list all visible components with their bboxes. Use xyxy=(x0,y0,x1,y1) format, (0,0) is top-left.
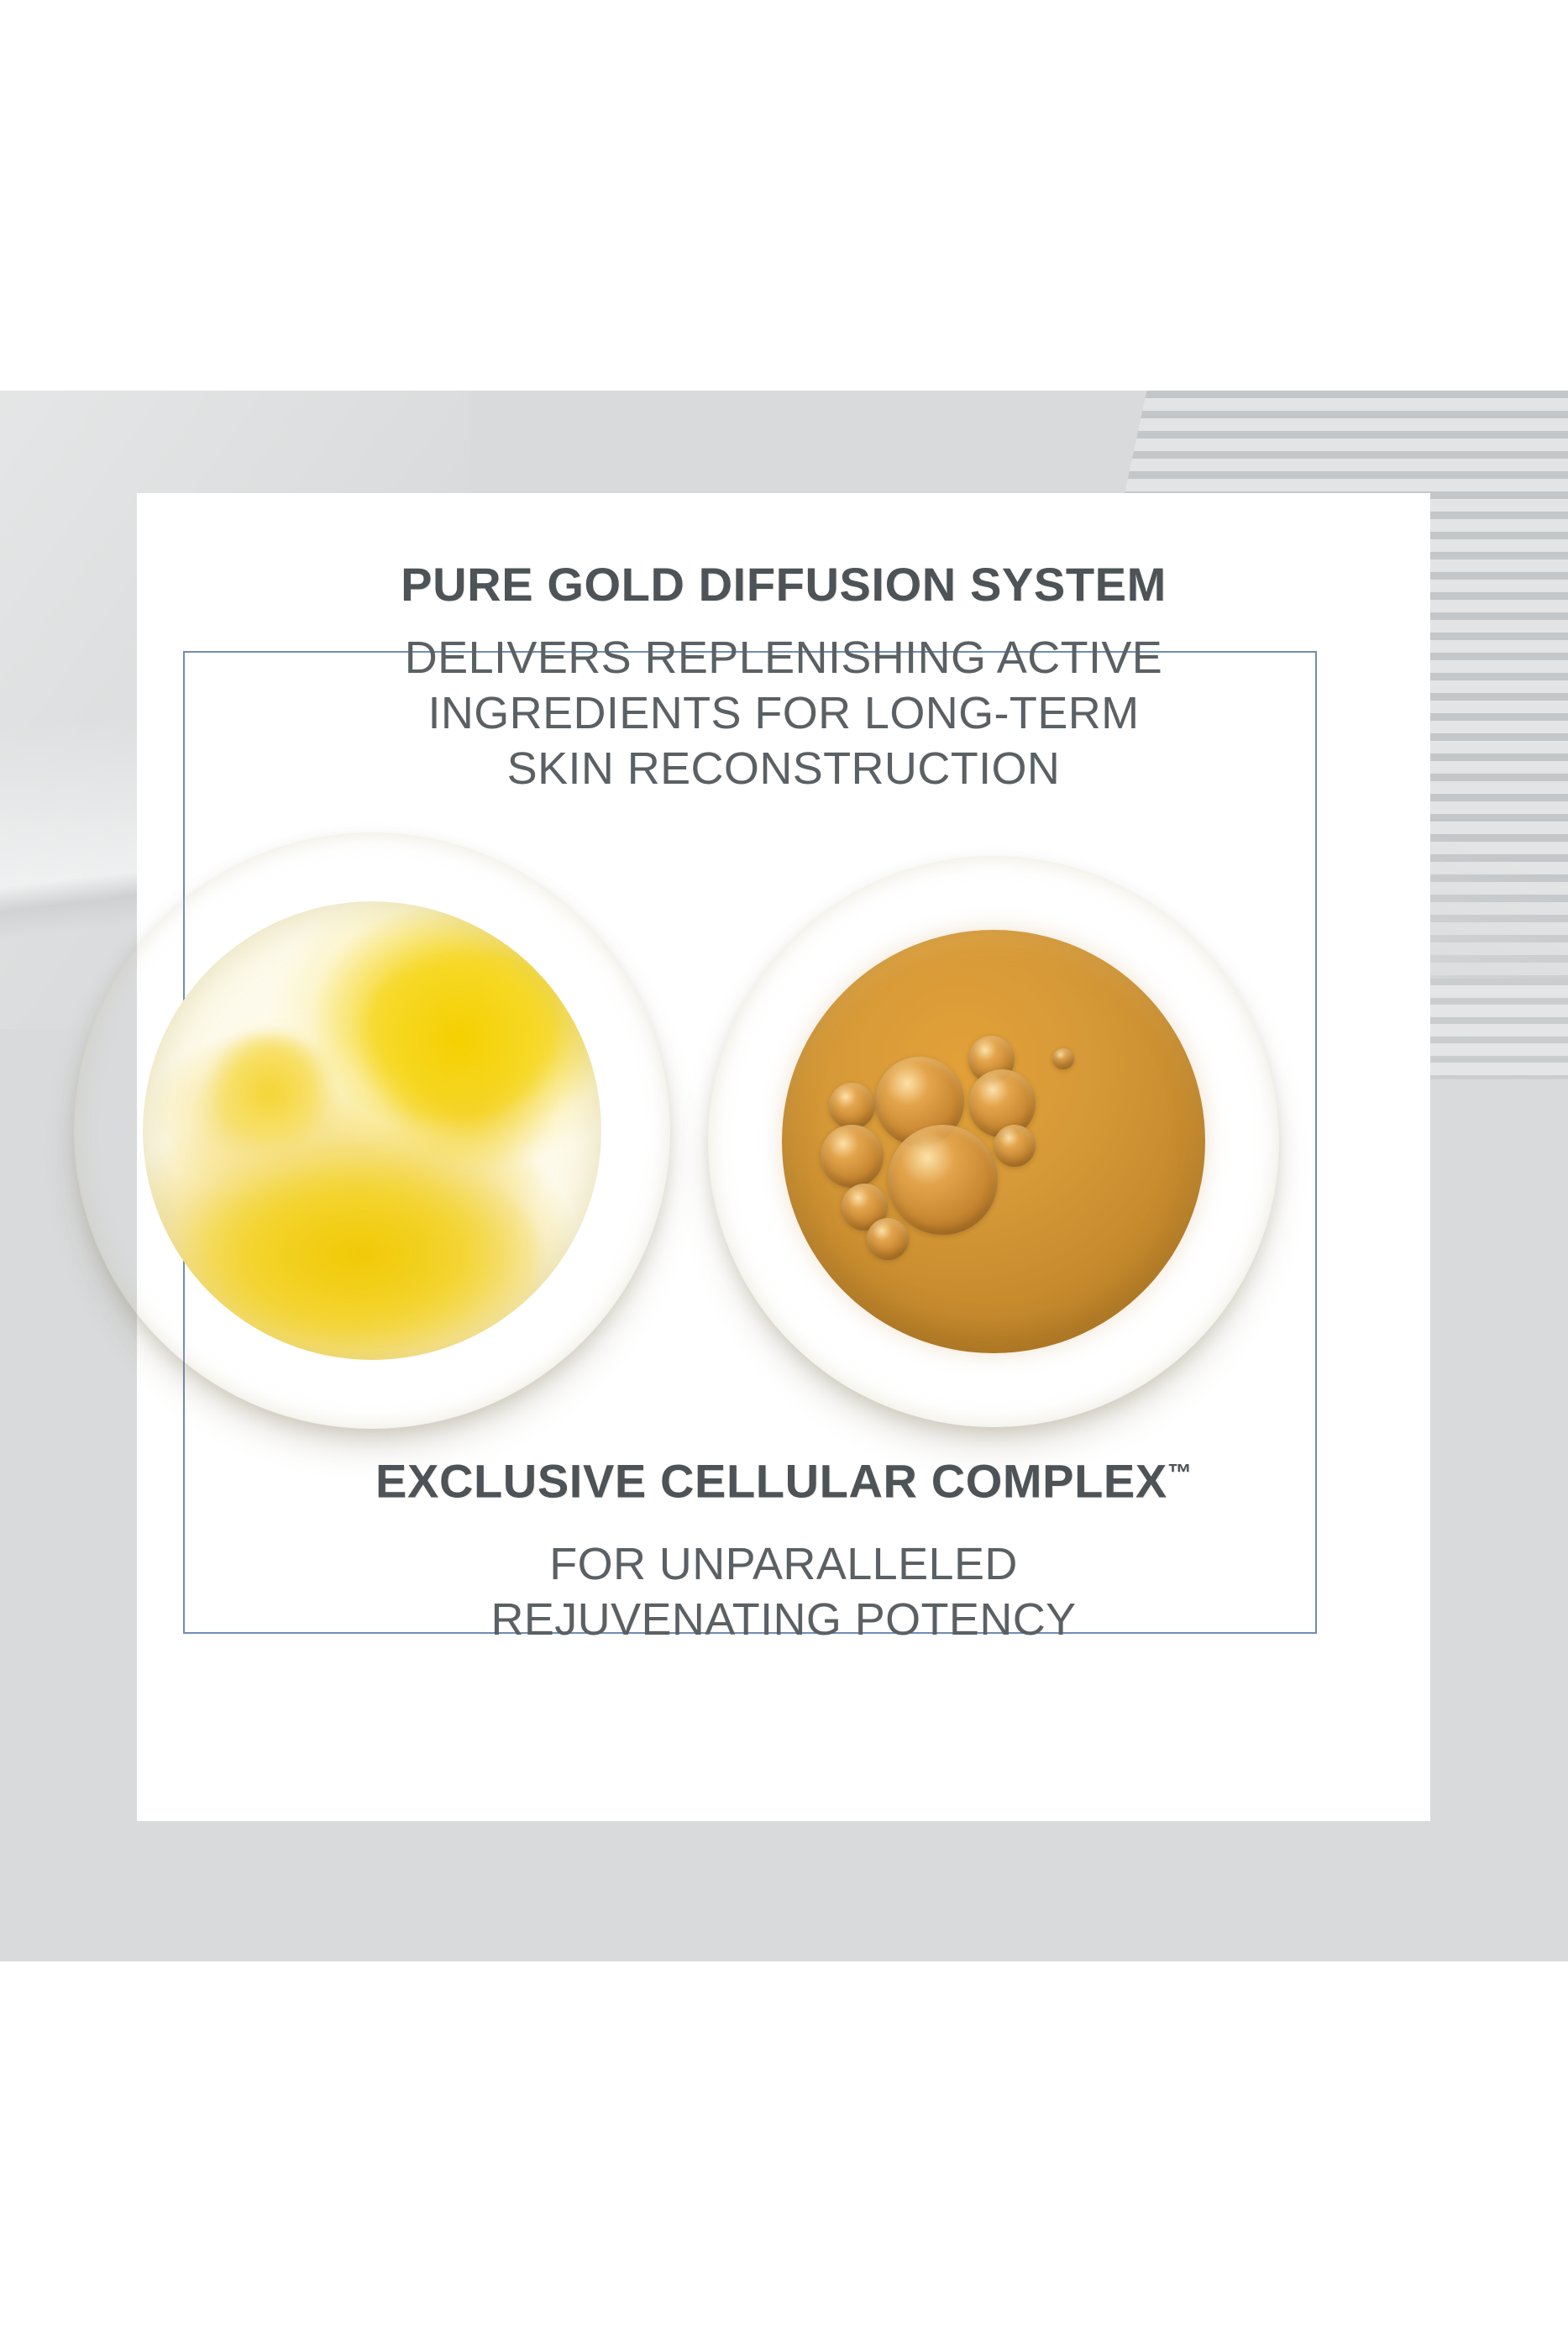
bottom-subline: FOR UNPARALLELED REJUVENATING POTENCY xyxy=(137,1536,1430,1647)
bottom-subline-line-2: REJUVENATING POTENCY xyxy=(137,1592,1430,1647)
background-stripe-pattern-lower xyxy=(1415,979,1568,1079)
bottom-headline: EXCLUSIVE CELLULAR COMPLEX™ xyxy=(137,1446,1430,1509)
content-card: PURE GOLD DIFFUSION SYSTEM DELIVERS REPL… xyxy=(137,493,1430,1821)
top-subline-line-2: INGREDIENTS FOR LONG-TERM xyxy=(137,685,1430,741)
top-headline: PURE GOLD DIFFUSION SYSTEM xyxy=(137,558,1430,612)
bottom-subline-line-1: FOR UNPARALLELED xyxy=(137,1536,1430,1592)
bottom-headline-text: EXCLUSIVE CELLULAR COMPLEX xyxy=(375,1455,1167,1508)
petri-dish-amber-oil xyxy=(708,856,1279,1427)
dish-glass-rim xyxy=(708,856,1279,1427)
petri-dish-yellow-diffusion xyxy=(74,832,670,1429)
trademark-symbol: ™ xyxy=(1167,1460,1192,1487)
top-subline: DELIVERS REPLENISHING ACTIVE INGREDIENTS… xyxy=(137,630,1430,796)
top-subline-line-3: SKIN RECONSTRUCTION xyxy=(137,741,1430,796)
top-subline-line-1: DELIVERS REPLENISHING ACTIVE xyxy=(137,630,1430,685)
page-canvas: PURE GOLD DIFFUSION SYSTEM DELIVERS REPL… xyxy=(0,0,1568,2352)
dish-glass-rim xyxy=(74,832,670,1429)
